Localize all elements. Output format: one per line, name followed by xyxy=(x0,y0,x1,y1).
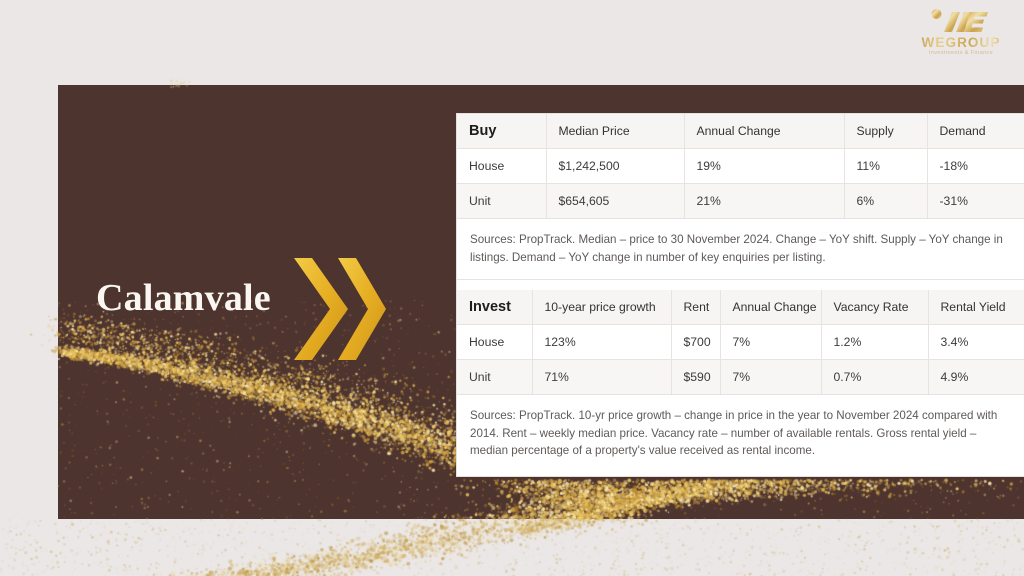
buy-table-corner-label: Buy xyxy=(457,114,546,149)
cell-invest-house-annual-change: 7% xyxy=(720,325,821,360)
cell-buy-unit-median-price: $654,605 xyxy=(546,184,684,219)
column-header-rental-yield: Rental Yield xyxy=(928,290,1024,325)
column-header-annual-change: Annual Change xyxy=(684,114,844,149)
cell-buy-unit-demand: -31% xyxy=(927,184,1024,219)
cell-invest-house-rental-yield: 3.4% xyxy=(928,325,1024,360)
double-chevron-right-icon xyxy=(292,256,388,362)
wegroup-logo-mark-icon xyxy=(912,8,1010,34)
cell-invest-unit-growth: 71% xyxy=(532,360,671,395)
column-header-supply: Supply xyxy=(844,114,927,149)
buy-table: Buy Median Price Annual Change Supply De… xyxy=(457,114,1024,219)
column-header-annual-change: Annual Change xyxy=(720,290,821,325)
cell-buy-house-annual-change: 19% xyxy=(684,149,844,184)
cell-buy-house-demand: -18% xyxy=(927,149,1024,184)
column-header-vacancy-rate: Vacancy Rate xyxy=(821,290,928,325)
cell-buy-house-median-price: $1,242,500 xyxy=(546,149,684,184)
row-label-house: House xyxy=(457,149,546,184)
cell-invest-unit-rental-yield: 4.9% xyxy=(928,360,1024,395)
cell-invest-unit-vacancy-rate: 0.7% xyxy=(821,360,928,395)
row-label-house: House xyxy=(457,325,532,360)
table-header-row: Buy Median Price Annual Change Supply De… xyxy=(457,114,1024,149)
cell-buy-house-supply: 11% xyxy=(844,149,927,184)
section-spacer xyxy=(457,280,1024,290)
cell-invest-house-growth: 123% xyxy=(532,325,671,360)
row-label-unit: Unit xyxy=(457,360,532,395)
invest-sources-note: Sources: PropTrack. 10-yr price growth –… xyxy=(457,395,1024,476)
logo-tagline: Investments & Finance xyxy=(912,50,1010,56)
table-row: Unit $654,605 21% 6% -31% xyxy=(457,184,1024,219)
table-header-row: Invest 10-year price growth Rent Annual … xyxy=(457,290,1024,325)
cell-buy-unit-supply: 6% xyxy=(844,184,927,219)
column-header-rent: Rent xyxy=(671,290,720,325)
table-row: Unit 71% $590 7% 0.7% 4.9% xyxy=(457,360,1024,395)
property-stats-card: Buy Median Price Annual Change Supply De… xyxy=(456,113,1024,477)
invest-table: Invest 10-year price growth Rent Annual … xyxy=(457,290,1024,395)
column-header-ten-year-price-growth: 10-year price growth xyxy=(532,290,671,325)
buy-sources-note: Sources: PropTrack. Median – price to 30… xyxy=(457,219,1024,280)
cell-buy-unit-annual-change: 21% xyxy=(684,184,844,219)
table-row: House 123% $700 7% 1.2% 3.4% xyxy=(457,325,1024,360)
brand-logo: WEGROUP Investments & Finance xyxy=(912,8,1010,70)
invest-table-corner-label: Invest xyxy=(457,290,532,325)
cell-invest-house-rent: $700 xyxy=(671,325,720,360)
cell-invest-house-vacancy-rate: 1.2% xyxy=(821,325,928,360)
logo-wordmark: WEGROUP xyxy=(912,35,1010,50)
column-header-median-price: Median Price xyxy=(546,114,684,149)
table-row: House $1,242,500 19% 11% -18% xyxy=(457,149,1024,184)
page-title: Calamvale xyxy=(96,276,271,320)
cell-invest-unit-rent: $590 xyxy=(671,360,720,395)
cell-invest-unit-annual-change: 7% xyxy=(720,360,821,395)
column-header-demand: Demand xyxy=(927,114,1024,149)
row-label-unit: Unit xyxy=(457,184,546,219)
